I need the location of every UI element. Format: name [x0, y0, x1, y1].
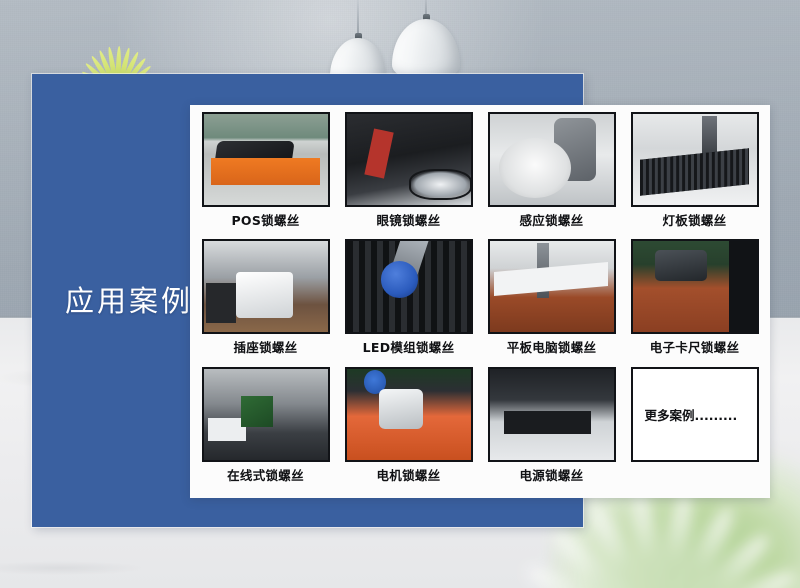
- lamp-shade: [392, 19, 460, 81]
- case-thumbnail-image[interactable]: [631, 239, 759, 334]
- power-supply-screw-locking-photo: [490, 369, 614, 460]
- case-caption: 插座锁螺丝: [233, 337, 297, 356]
- inline-screw-locking-photo: [204, 369, 328, 460]
- case-caption: 电源锁螺丝: [519, 465, 583, 484]
- motor-screw-locking-photo: [347, 369, 471, 460]
- case-thumbnail-image[interactable]: [345, 112, 473, 207]
- tablet-screw-locking-photo: [490, 241, 614, 332]
- pendant-lamp-right-icon: [392, 0, 460, 84]
- case-caption: 眼镜锁螺丝: [376, 210, 440, 229]
- more-cases-cell[interactable]: 更多案例.........: [625, 367, 764, 492]
- case-cell[interactable]: 电机锁螺丝: [339, 367, 478, 492]
- case-thumbnail-image[interactable]: [202, 112, 330, 207]
- eyeglasses-screw-locking-photo: [347, 114, 471, 205]
- led-module-screw-locking-photo: [347, 241, 471, 332]
- case-cell[interactable]: 眼镜锁螺丝: [339, 112, 478, 237]
- case-thumbnail-image[interactable]: [488, 239, 616, 334]
- pos-screw-locking-photo: [204, 114, 328, 205]
- case-cell[interactable]: 感应锁螺丝: [482, 112, 621, 237]
- case-caption: 灯板锁螺丝: [662, 210, 726, 229]
- application-cases-card: POS锁螺丝眼镜锁螺丝感应锁螺丝灯板锁螺丝插座锁螺丝LED模组锁螺丝平板电脑锁螺…: [190, 105, 770, 498]
- digital-caliper-screw-locking-photo: [633, 241, 757, 332]
- case-cell[interactable]: 在线式锁螺丝: [196, 367, 335, 492]
- page-title: 应用案例: [65, 278, 193, 320]
- case-thumbnail-image[interactable]: [488, 112, 616, 207]
- case-cell[interactable]: POS锁螺丝: [196, 112, 335, 237]
- case-cell[interactable]: 电子卡尺锁螺丝: [625, 239, 764, 364]
- socket-screw-locking-photo: [204, 241, 328, 332]
- case-thumbnail-image[interactable]: [202, 239, 330, 334]
- application-cases-grid: POS锁螺丝眼镜锁螺丝感应锁螺丝灯板锁螺丝插座锁螺丝LED模组锁螺丝平板电脑锁螺…: [196, 112, 764, 492]
- lamp-cord: [357, 0, 359, 36]
- case-thumbnail-image[interactable]: [345, 367, 473, 462]
- more-cases-box[interactable]: 更多案例.........: [631, 367, 759, 462]
- case-thumbnail-image[interactable]: [202, 367, 330, 462]
- case-caption: 电子卡尺锁螺丝: [650, 337, 740, 356]
- case-caption: POS锁螺丝: [231, 210, 299, 229]
- case-thumbnail-image[interactable]: [488, 367, 616, 462]
- case-thumbnail-image[interactable]: [631, 112, 759, 207]
- light-board-screw-locking-photo: [633, 114, 757, 205]
- case-cell[interactable]: 插座锁螺丝: [196, 239, 335, 364]
- case-cell[interactable]: 电源锁螺丝: [482, 367, 621, 492]
- case-thumbnail-image[interactable]: [345, 239, 473, 334]
- case-cell[interactable]: 灯板锁螺丝: [625, 112, 764, 237]
- case-cell[interactable]: LED模组锁螺丝: [339, 239, 478, 364]
- case-caption: 电机锁螺丝: [376, 465, 440, 484]
- case-caption: 平板电脑锁螺丝: [507, 337, 597, 356]
- case-cell[interactable]: 平板电脑锁螺丝: [482, 239, 621, 364]
- case-caption: 在线式锁螺丝: [227, 465, 304, 484]
- sensor-screw-locking-photo: [490, 114, 614, 205]
- more-cases-label: 更多案例.........: [633, 405, 738, 424]
- case-caption: 感应锁螺丝: [519, 210, 583, 229]
- case-caption: LED模组锁螺丝: [363, 337, 455, 356]
